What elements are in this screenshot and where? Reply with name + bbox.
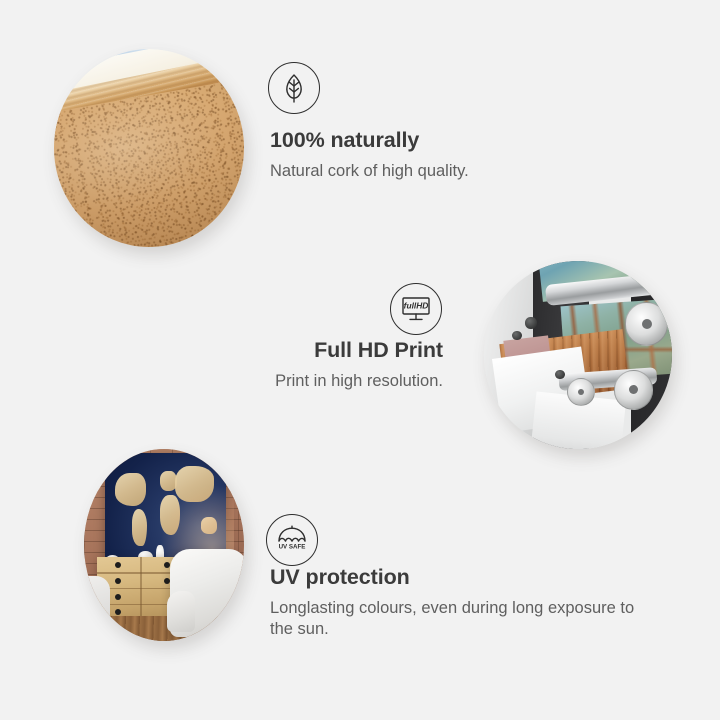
printer-knob-lever xyxy=(512,331,521,340)
map-continent-north-america xyxy=(115,473,147,506)
interior-world-map-photo xyxy=(84,449,244,641)
feature-uv-title: UV protection xyxy=(270,565,642,590)
interior-photo-inner xyxy=(84,449,244,641)
cork-photo-inner xyxy=(54,49,244,247)
dresser-knob-4 xyxy=(115,609,121,615)
feature-natural-title: 100% naturally xyxy=(270,128,469,153)
dresser-knob-6 xyxy=(164,578,170,584)
feature-natural-text: 100% naturally Natural cork of high qual… xyxy=(270,128,469,182)
printer-roller-cap-mid xyxy=(567,378,595,406)
monitor-fullhd-icon: fullHD xyxy=(390,283,442,335)
feature-natural-description: Natural cork of high quality. xyxy=(270,161,469,183)
white-armchair xyxy=(170,549,244,637)
feature-uv-text: UV protection Longlasting colours, even … xyxy=(270,565,642,641)
feature-uv-description: Longlasting colours, even during long ex… xyxy=(270,598,642,642)
feature-fullhd-text: Full HD Print Print in high resolution. xyxy=(275,338,443,392)
printing-machine-photo xyxy=(484,261,672,449)
svg-text:fullHD: fullHD xyxy=(404,301,429,311)
dresser-knob-3 xyxy=(115,594,121,600)
armchair-arm xyxy=(167,591,195,632)
svg-text:UV SAFE: UV SAFE xyxy=(279,543,306,550)
feature-highlights-board: 100% naturally Natural cork of high qual… xyxy=(0,0,720,720)
printer-photo-inner xyxy=(484,261,672,449)
feature-fullhd-title: Full HD Print xyxy=(275,338,443,363)
printer-roller-cap-bottom xyxy=(614,370,654,410)
dresser-knob-2 xyxy=(115,578,121,584)
dresser-knob-5 xyxy=(164,562,170,568)
printer-roller-cap-right xyxy=(625,302,668,345)
uv-safe-umbrella-icon: UV SAFE xyxy=(266,514,318,566)
leaf-icon xyxy=(268,62,320,114)
printer-knob-upper xyxy=(525,317,536,328)
dresser-center-divider xyxy=(140,557,142,622)
armchair-left-partial xyxy=(84,576,110,634)
world-map-board xyxy=(105,453,227,564)
feature-fullhd-description: Print in high resolution. xyxy=(275,371,443,393)
cork-texture-photo xyxy=(54,49,244,247)
map-continent-south-america xyxy=(132,509,148,547)
dresser-knob-1 xyxy=(115,562,121,568)
